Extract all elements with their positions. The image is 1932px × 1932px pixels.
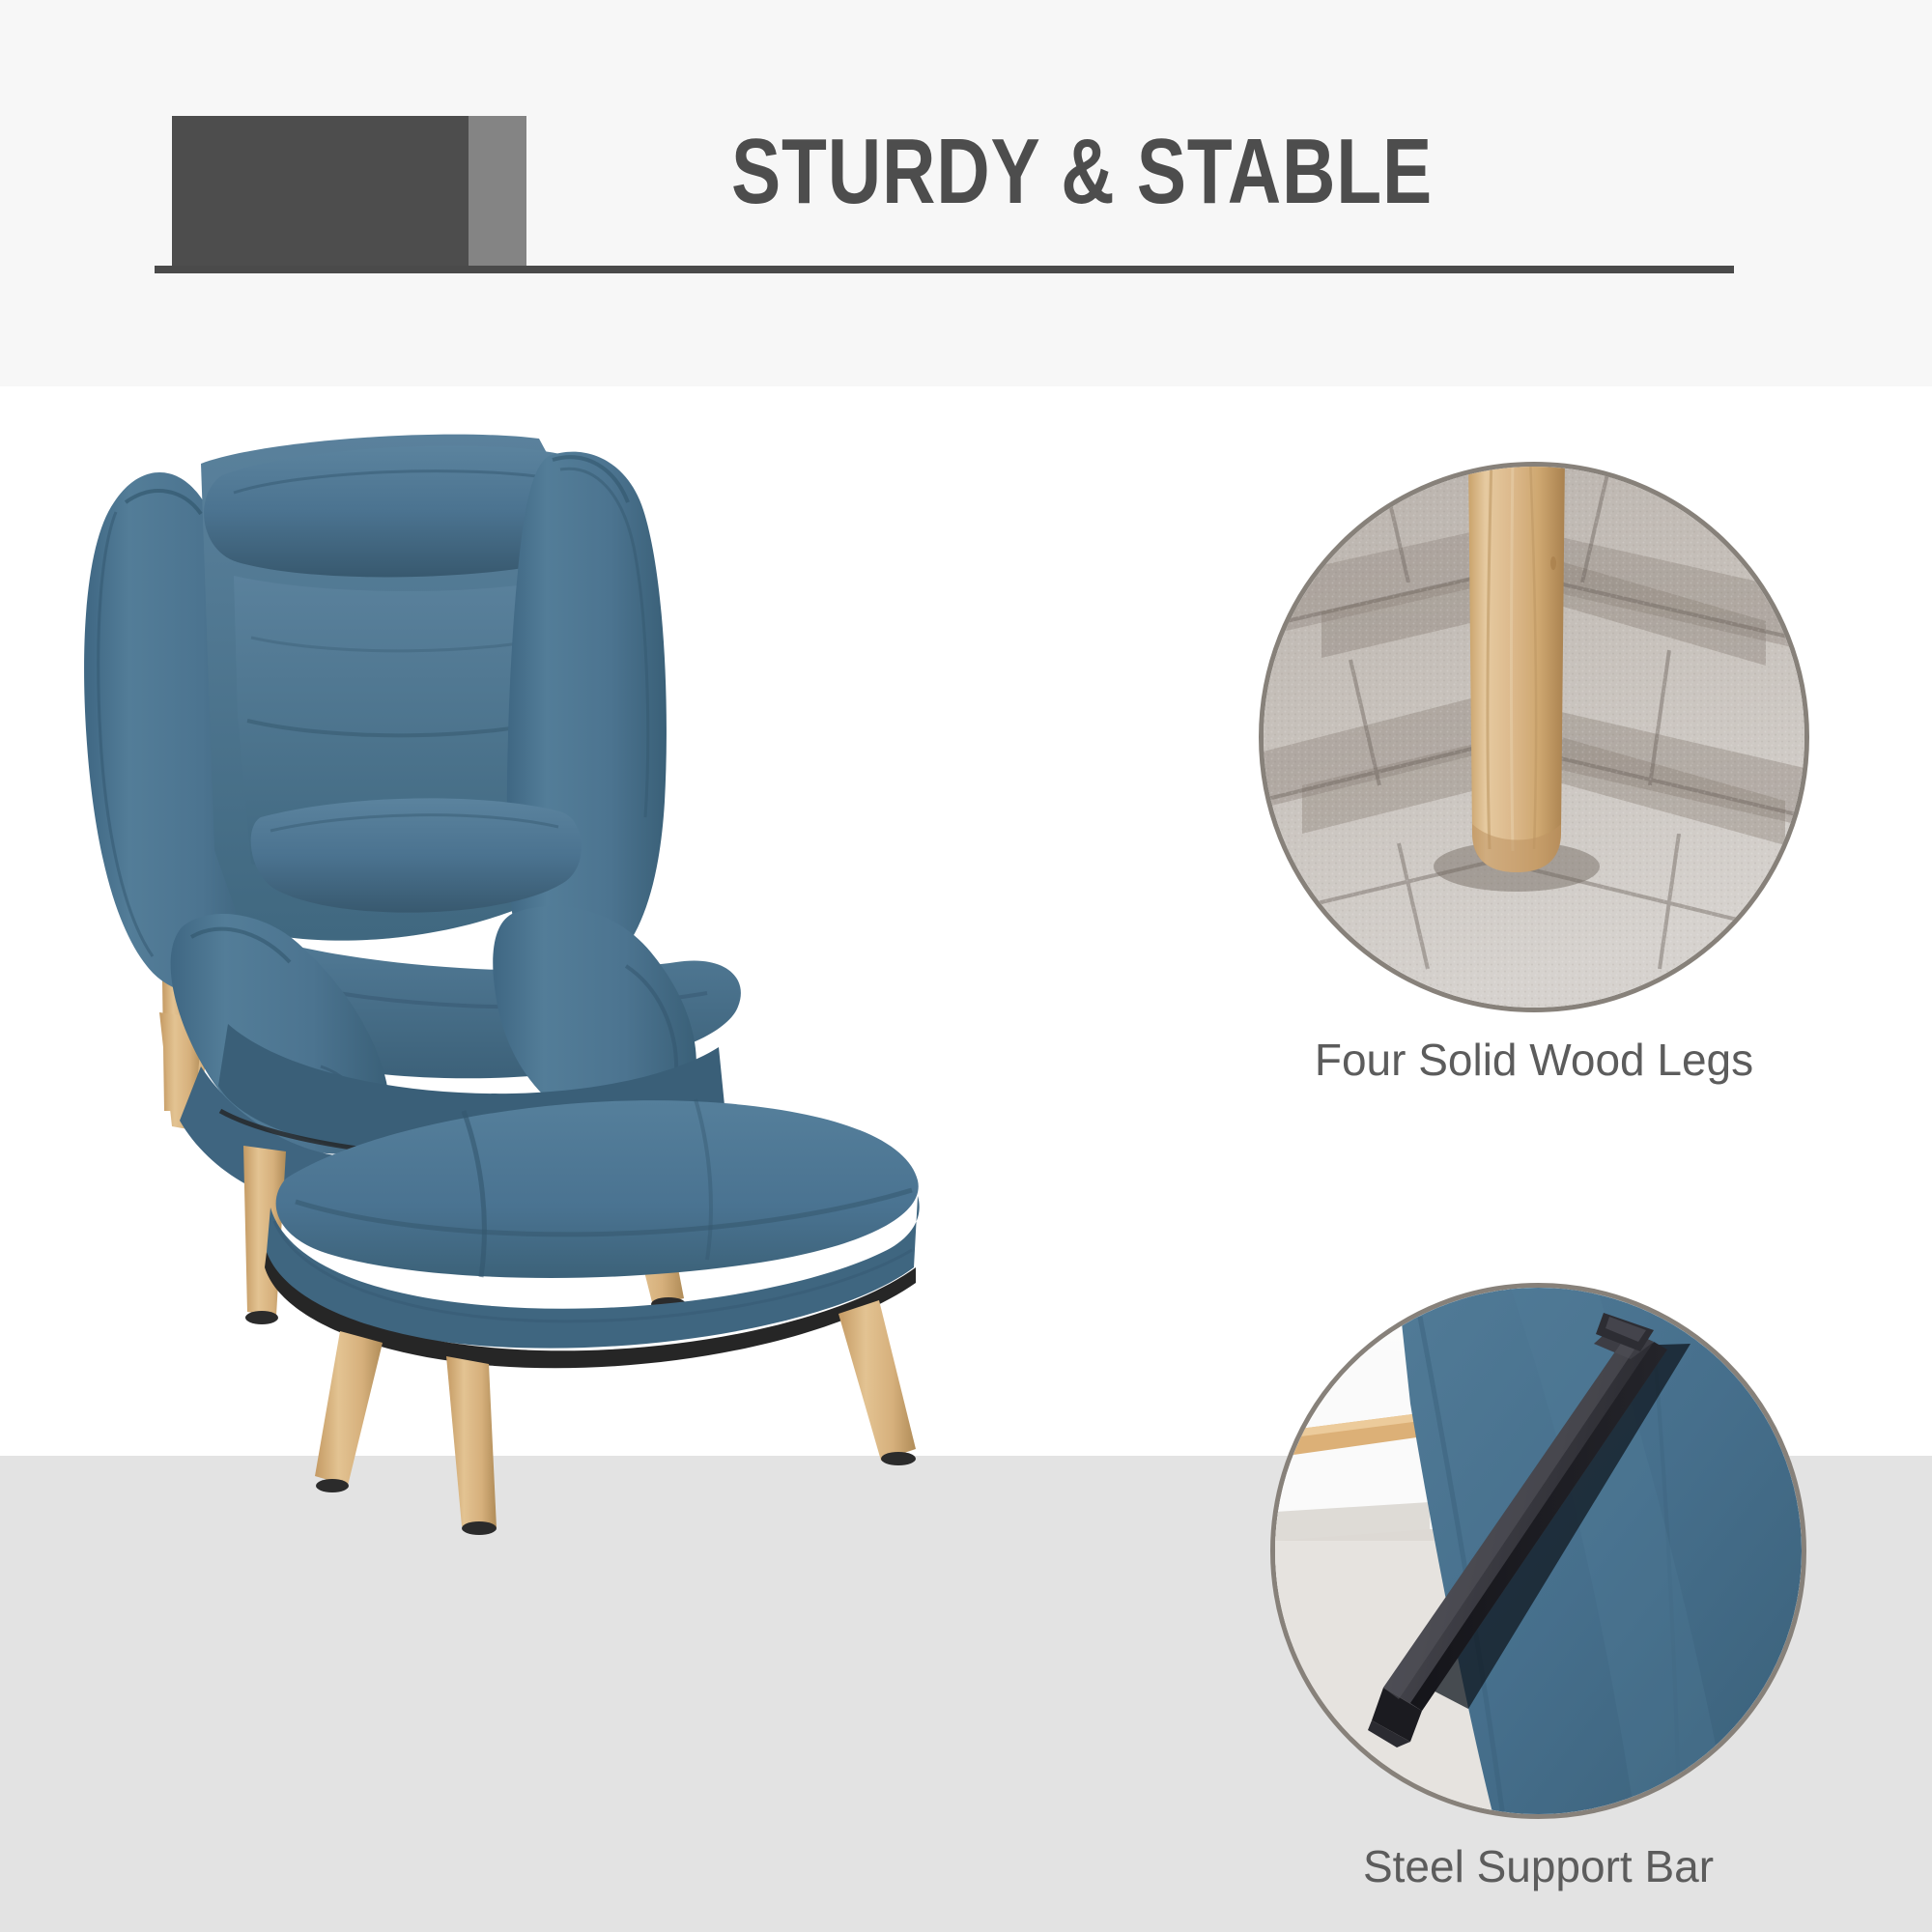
inset-caption-wood-legs: Four Solid Wood Legs: [1259, 1034, 1809, 1086]
header-divider-rule: [155, 266, 1734, 273]
page-title: STURDY & STABLE: [696, 114, 1468, 230]
inset-four-solid-wood-legs: Four Solid Wood Legs: [1259, 462, 1809, 1086]
product-feature-banner: STURDY & STABLE: [0, 0, 1932, 1932]
ottoman-leg-left: [315, 1331, 383, 1486]
ottoman-leg-right: [838, 1300, 916, 1461]
inset-image-steel-bar: [1270, 1283, 1806, 1819]
wood-leg-shape: [1468, 467, 1565, 872]
inset-steel-support-bar: Steel Support Bar: [1270, 1283, 1806, 1892]
ottoman: [265, 1099, 920, 1535]
product-photo-chair-and-ottoman: [58, 348, 1043, 1536]
header-accent-block-light: [469, 116, 526, 267]
ottoman-leg-front: [446, 1356, 497, 1528]
inset-caption-steel-bar: Steel Support Bar: [1270, 1840, 1806, 1892]
header-accent-block-dark: [172, 116, 469, 267]
inset-image-wood-leg: [1259, 462, 1809, 1012]
chair-wing-right: [507, 452, 667, 983]
